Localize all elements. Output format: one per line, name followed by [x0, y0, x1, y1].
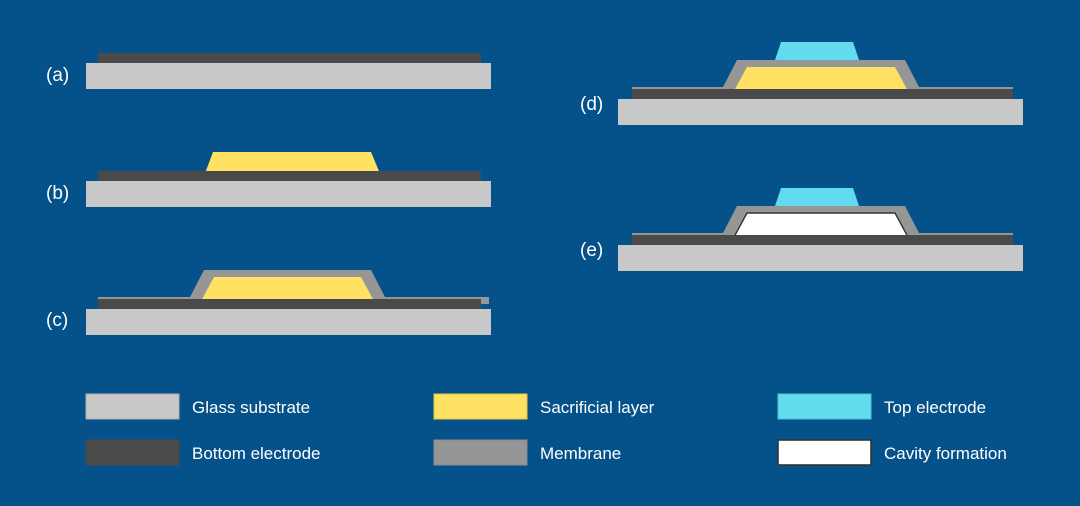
panel-c-label: (c)	[46, 310, 68, 331]
panel-a-glass-substrate	[86, 63, 491, 89]
legend-swatch-top-electrode	[778, 394, 871, 419]
panel-b-label: (b)	[46, 183, 69, 204]
legend-swatch-membrane	[434, 440, 527, 465]
panel-a: (a)	[46, 53, 491, 89]
panel-e-cavity	[734, 213, 908, 237]
legend-item-bottom-electrode: Bottom electrode	[86, 440, 321, 465]
legend-label-membrane: Membrane	[540, 444, 621, 463]
legend-swatch-sacrificial-layer	[434, 394, 527, 419]
panel-d-sacrificial-layer	[734, 67, 908, 91]
legend-label-sacrificial-layer: Sacrificial layer	[540, 398, 655, 417]
panel-c-bottom-electrode	[98, 299, 481, 309]
panel-e-bottom-electrode	[632, 235, 1013, 245]
legend-label-bottom-electrode: Bottom electrode	[192, 444, 321, 463]
panel-e-glass-substrate	[618, 245, 1023, 271]
panel-b-bottom-electrode	[98, 171, 481, 181]
panel-d-label: (d)	[580, 94, 603, 115]
panel-b-glass-substrate	[86, 181, 491, 207]
legend-item-sacrificial-layer: Sacrificial layer	[434, 394, 655, 419]
panel-d-top-electrode	[774, 42, 860, 63]
legend-label-glass-substrate: Glass substrate	[192, 398, 310, 417]
legend-swatch-cavity-formation	[778, 440, 871, 465]
legend-label-top-electrode: Top electrode	[884, 398, 986, 417]
panel-d-glass-substrate	[618, 99, 1023, 125]
process-flow-diagram: (a) (b) (c) (d) (e)	[0, 0, 1080, 506]
panel-e-label: (e)	[580, 240, 603, 261]
panel-c-sacrificial-layer	[201, 277, 374, 301]
legend-item-cavity-formation: Cavity formation	[778, 440, 1007, 465]
legend-item-glass-substrate: Glass substrate	[86, 394, 310, 419]
panel-d-bottom-electrode	[632, 89, 1013, 99]
panel-a-bottom-electrode	[98, 53, 481, 63]
panel-a-label: (a)	[46, 65, 69, 86]
legend-swatch-glass-substrate	[86, 394, 179, 419]
legend-label-cavity-formation: Cavity formation	[884, 444, 1007, 463]
panel-c-glass-substrate	[86, 309, 491, 335]
legend-swatch-bottom-electrode	[86, 440, 179, 465]
panel-e-top-electrode	[774, 188, 860, 209]
